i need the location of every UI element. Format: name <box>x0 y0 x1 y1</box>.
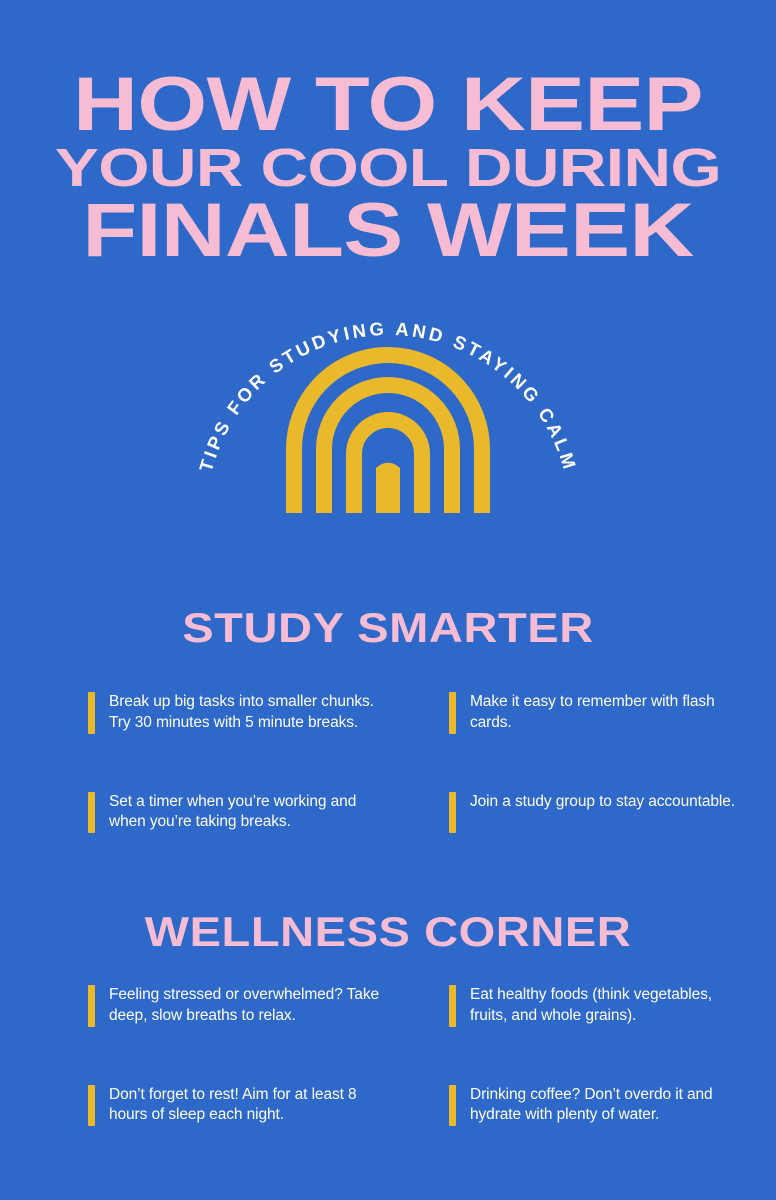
rainbow-arcs <box>294 355 482 513</box>
infographic-poster: HOW TO KEEP YOUR COOL DURING FINALS WEEK… <box>0 0 776 1200</box>
section-heading-wellness-corner: WELLNESS CORNER <box>0 908 776 956</box>
tip-accent-bar <box>449 692 456 734</box>
tip-accent-bar <box>88 792 95 834</box>
tip-text: Set a timer when you’re working and when… <box>109 792 391 834</box>
tip-text: Make it easy to remember with flash card… <box>470 692 752 734</box>
tip-item: Join a study group to stay accountable. <box>449 792 752 834</box>
tip-text: Drinking coffee? Don’t overdo it and hyd… <box>470 1085 752 1127</box>
tip-accent-bar <box>88 985 95 1027</box>
tip-accent-bar <box>88 692 95 734</box>
tips-grid-wellness-corner: Feeling stressed or overwhelmed? Take de… <box>88 985 752 1126</box>
tip-accent-bar <box>449 792 456 834</box>
tip-text: Break up big tasks into smaller chunks. … <box>109 692 391 734</box>
tip-text: Join a study group to stay accountable. <box>470 792 735 834</box>
tip-text: Eat healthy foods (think vegetables, fru… <box>470 985 752 1027</box>
tip-item: Feeling stressed or overwhelmed? Take de… <box>88 985 391 1027</box>
title-line-1: HOW TO KEEP <box>0 72 776 139</box>
title-line-2: YOUR COOL DURING <box>0 145 776 193</box>
tip-item: Eat healthy foods (think vegetables, fru… <box>449 985 752 1027</box>
emblem-curved-text: TIPS FOR STUDYING AND STAYING CALM <box>195 318 581 474</box>
tip-item: Make it easy to remember with flash card… <box>449 692 752 734</box>
title-line-3: FINALS WEEK <box>0 198 776 265</box>
tip-text: Don’t forget to rest! Aim for at least 8… <box>109 1085 391 1127</box>
tip-item: Break up big tasks into smaller chunks. … <box>88 692 391 734</box>
poster-title: HOW TO KEEP YOUR COOL DURING FINALS WEEK <box>0 72 776 265</box>
section-heading-study-smarter: STUDY SMARTER <box>0 604 776 652</box>
tip-text: Feeling stressed or overwhelmed? Take de… <box>109 985 391 1027</box>
tip-accent-bar <box>449 985 456 1027</box>
tip-item: Set a timer when you’re working and when… <box>88 792 391 834</box>
tip-accent-bar <box>449 1085 456 1127</box>
tips-grid-study-smarter: Break up big tasks into smaller chunks. … <box>88 692 752 833</box>
tip-item: Drinking coffee? Don’t overdo it and hyd… <box>449 1085 752 1127</box>
tip-accent-bar <box>88 1085 95 1127</box>
rainbow-emblem: TIPS FOR STUDYING AND STAYING CALM <box>188 312 588 532</box>
tip-item: Don’t forget to rest! Aim for at least 8… <box>88 1085 391 1127</box>
